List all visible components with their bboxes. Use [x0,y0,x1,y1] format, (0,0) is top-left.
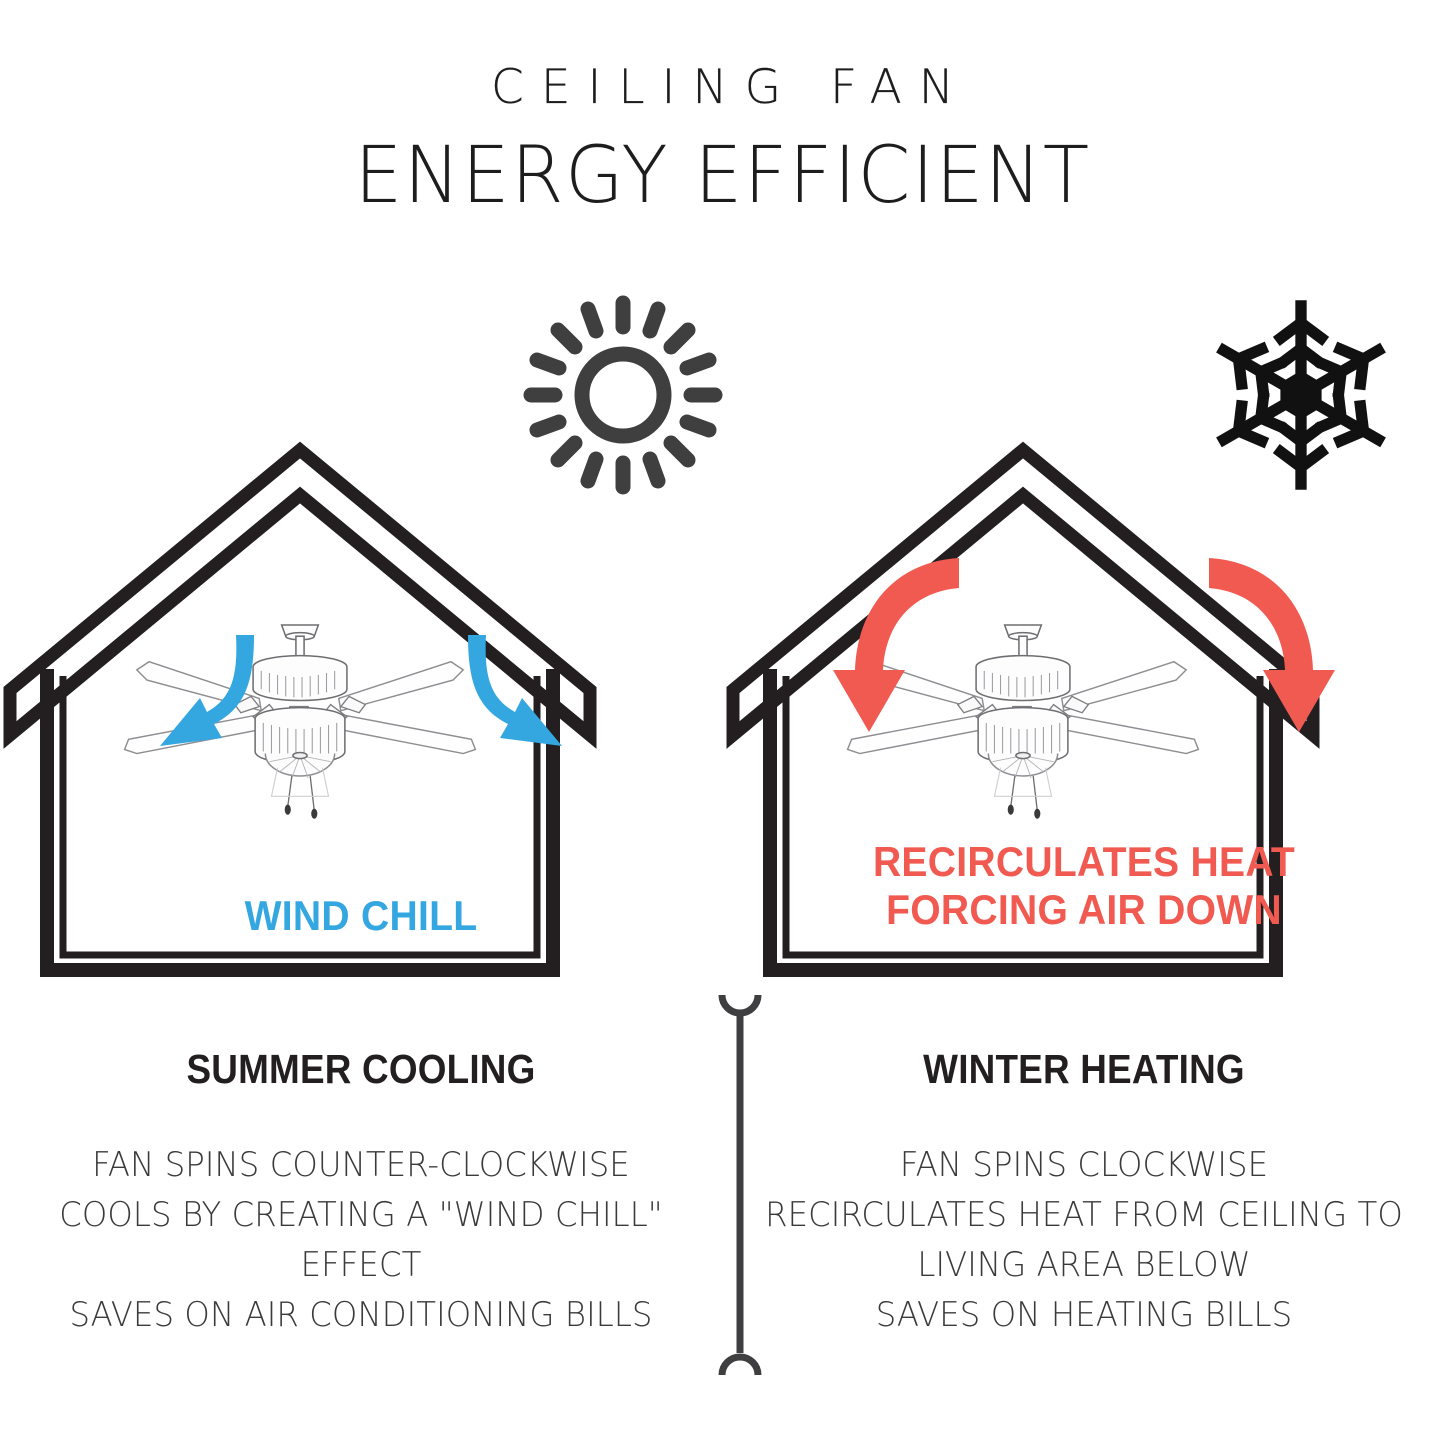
ceiling-fan-illustration [125,625,476,819]
body-line: EFFECT [18,1241,704,1291]
caption-line: FORCING AIR DOWN [748,886,1419,934]
wind-chill-label: WIND CHILL [25,892,696,940]
panel-winter-heating: RECIRCULATES HEAT FORCING AIR DOWN WINTE… [723,0,1445,1445]
section-title-winter: WINTER HEATING [759,1046,1409,1093]
section-body-summer: FAN SPINS COUNTER-CLOCKWISE COOLS BY CRE… [18,1141,704,1341]
section-title-summer: SUMMER COOLING [36,1046,686,1093]
panel-summer-cooling: WIND CHILL SUMMER COOLING FAN SPINS COUN… [0,0,722,1445]
body-line: FAN SPINS CLOCKWISE [741,1141,1427,1191]
infographic-canvas: CEILING FAN ENERGY EFFICIENT [0,0,1445,1445]
body-line: SAVES ON AIR CONDITIONING BILLS [18,1291,704,1341]
caption-line: RECIRCULATES HEAT [748,838,1419,886]
body-line: SAVES ON HEATING BILLS [741,1291,1427,1341]
body-line: COOLS BY CREATING A "WIND CHILL" [18,1191,704,1241]
ceiling-fan-illustration [848,625,1199,819]
body-line: RECIRCULATES HEAT FROM CEILING TO [741,1191,1427,1241]
body-line: FAN SPINS COUNTER-CLOCKWISE [18,1141,704,1191]
pull-chain-divider [700,985,780,1385]
section-body-winter: FAN SPINS CLOCKWISE RECIRCULATES HEAT FR… [741,1141,1427,1341]
body-line: LIVING AREA BELOW [741,1241,1427,1291]
recirculates-heat-label: RECIRCULATES HEAT FORCING AIR DOWN [748,838,1419,934]
